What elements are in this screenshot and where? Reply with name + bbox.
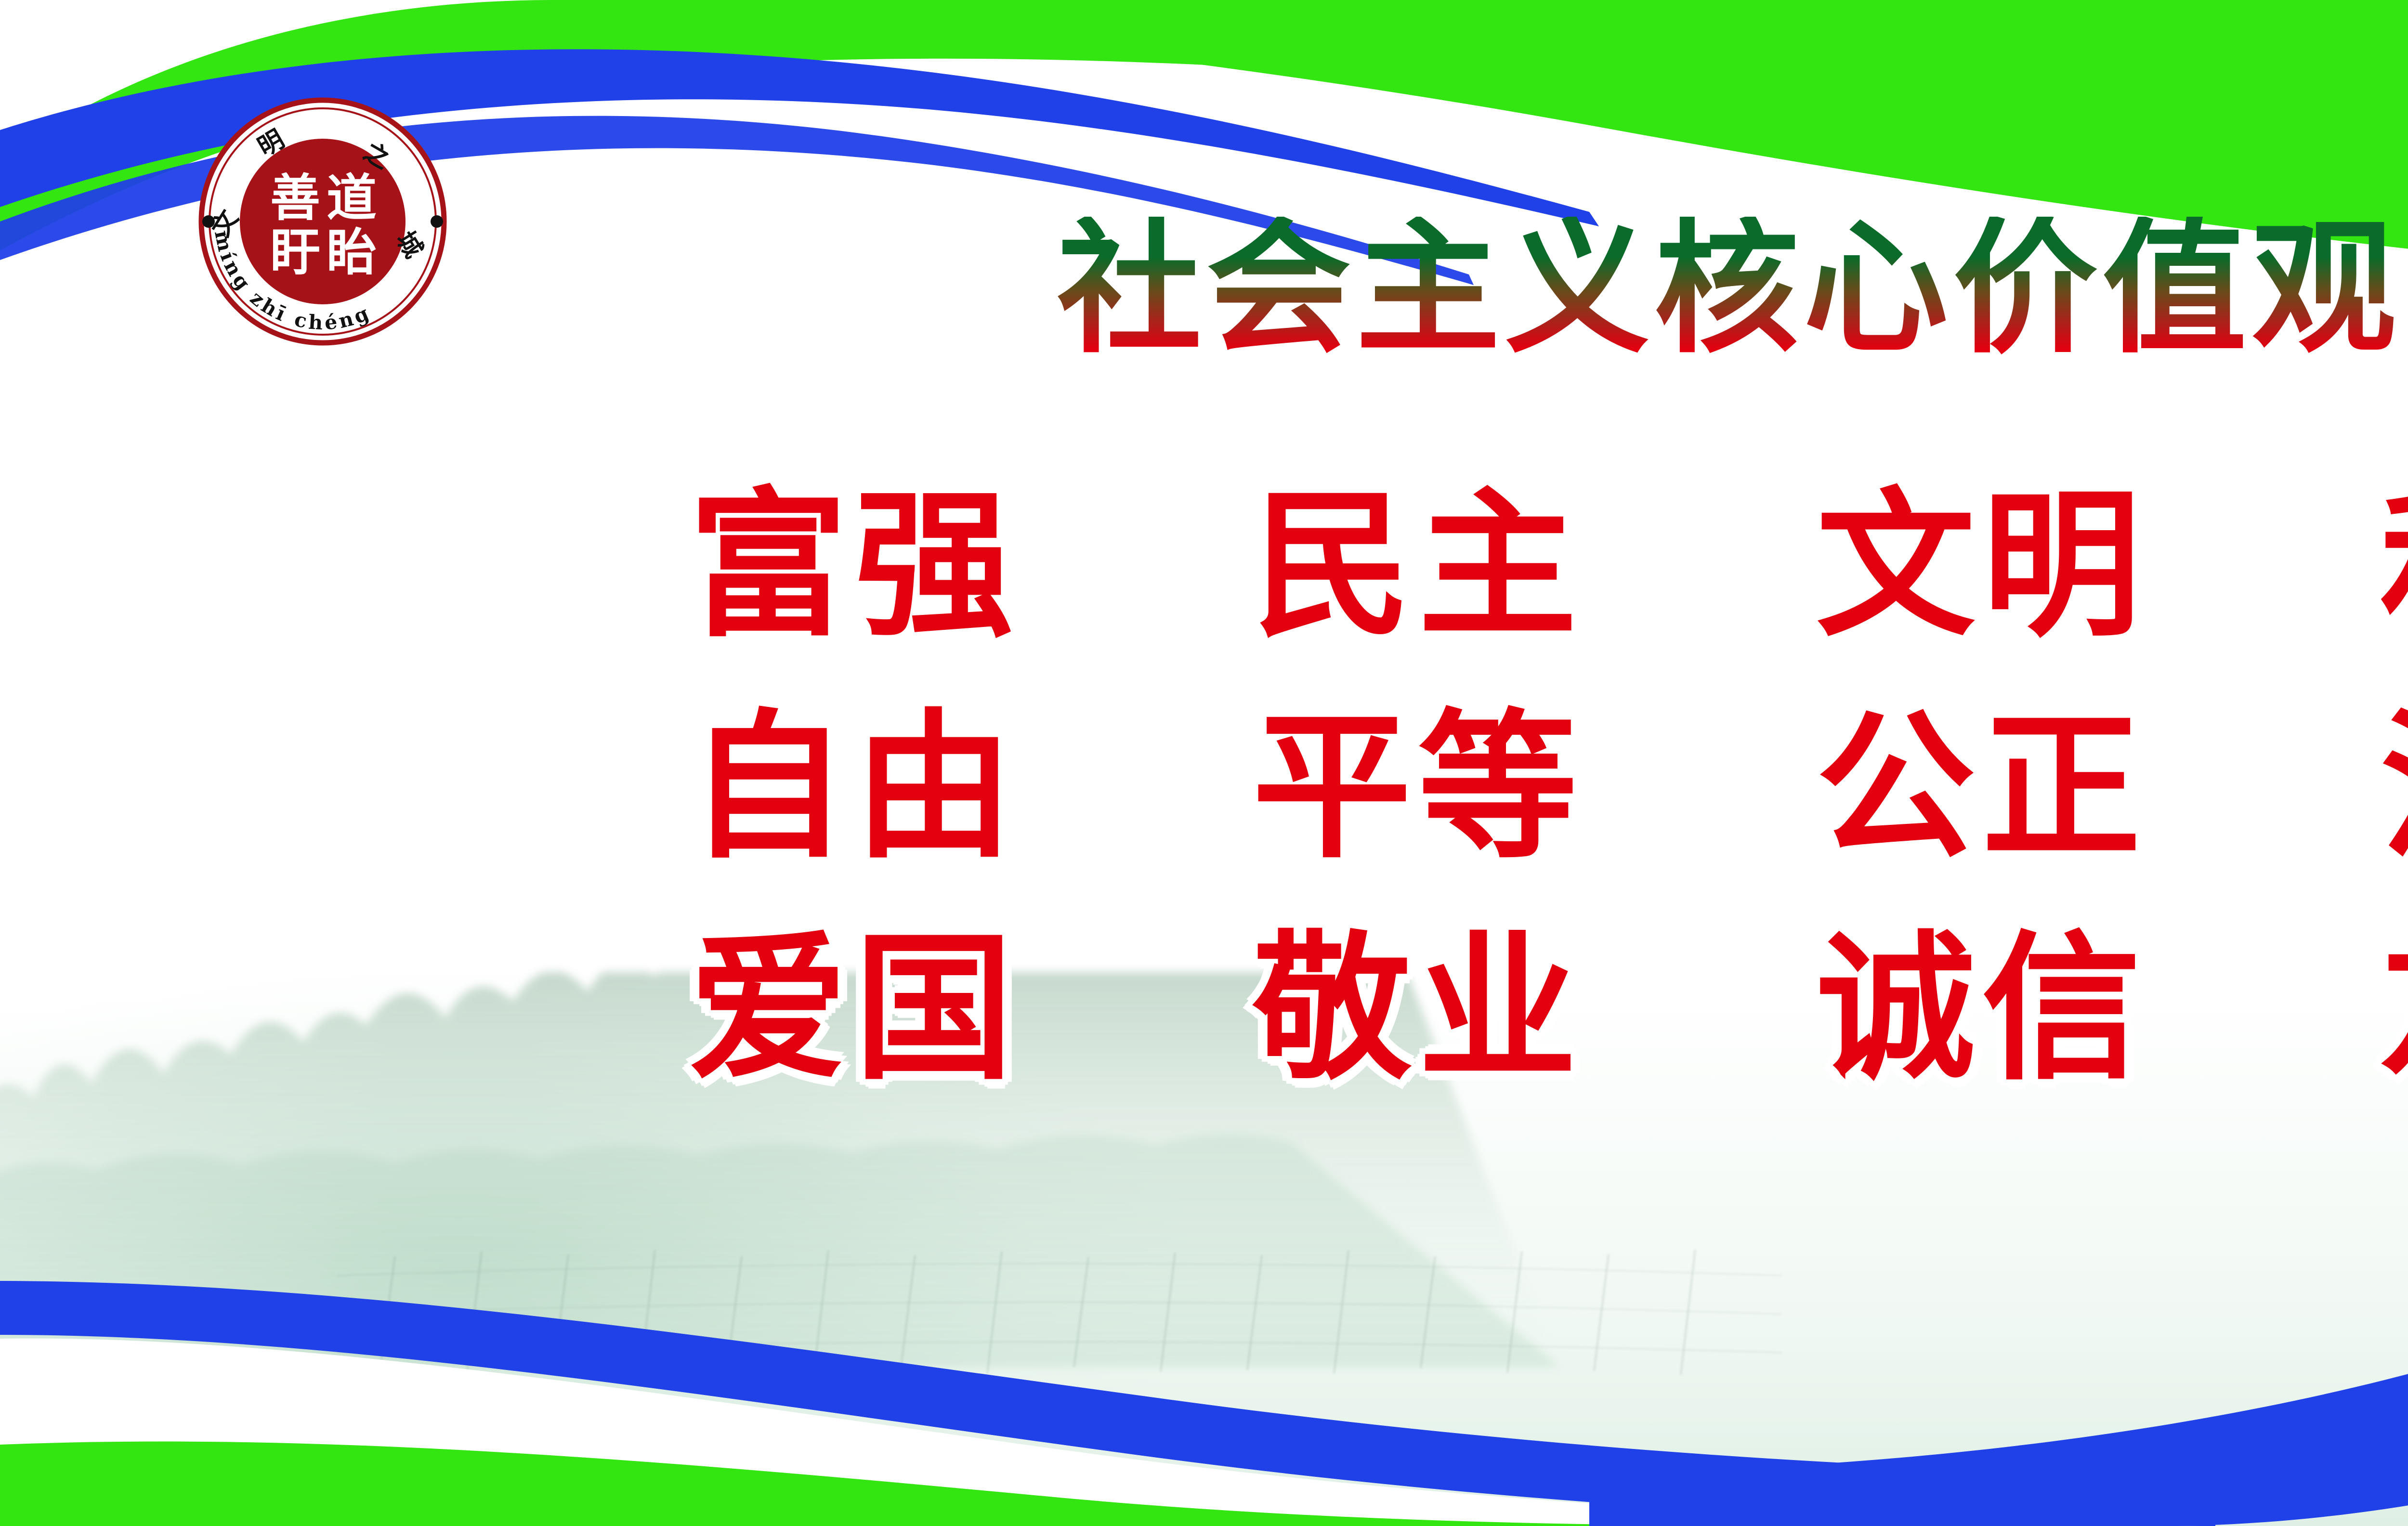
slogan-word: 爱国 [689,929,1020,1088]
slogan-row: 富强 民主 文明 和谐 [689,486,2408,645]
slogan-word: 自由 [689,708,1020,867]
page-title: 社会主义核心价值观 [814,217,2408,361]
banner-poster: 文 明 之 城 善 道 盱 眙 wén míng zhī chéng 社会主义核… [0,0,2408,1526]
slogan-word: 文明 [1816,486,2147,645]
ribbon-green-bottom-left [0,1442,1878,1526]
slogan-word: 友善 [2380,929,2408,1088]
slogan-word: 法治 [2380,708,2408,867]
city-emblem-logo: 文 明 之 城 善 道 盱 眙 wén míng zhī chéng [178,77,467,366]
slogan-word: 富强 [689,486,1020,645]
slogan-row: 自由 平等 公正 法治 [689,708,2408,867]
slogan-word: 敬业 [1253,929,1584,1088]
slogan-word: 民主 [1253,486,1584,645]
slogan-row: 爱国 敬业 诚信 友善 [689,929,2408,1088]
slogan-word: 和谐 [2380,486,2408,645]
emblem-center-char-3: 盱 [270,223,320,282]
slogan-word: 平等 [1253,708,1584,867]
emblem-center-char-4: 眙 [327,223,377,282]
slogan-word: 公正 [1816,708,2147,867]
emblem-center-char-2: 道 [327,169,377,227]
emblem-center-char-1: 善 [270,169,320,227]
core-values-slogans: 富强 民主 文明 和谐 自由 平等 公正 法治 爱国 敬业 诚信 友善 [689,486,2408,1088]
slogan-word: 诚信 [1816,929,2147,1088]
field-striations [337,1242,1782,1444]
ribbon-blue-bottom-left [0,1338,2071,1526]
ribbon-blue-bottom-left-band [0,1281,2215,1526]
